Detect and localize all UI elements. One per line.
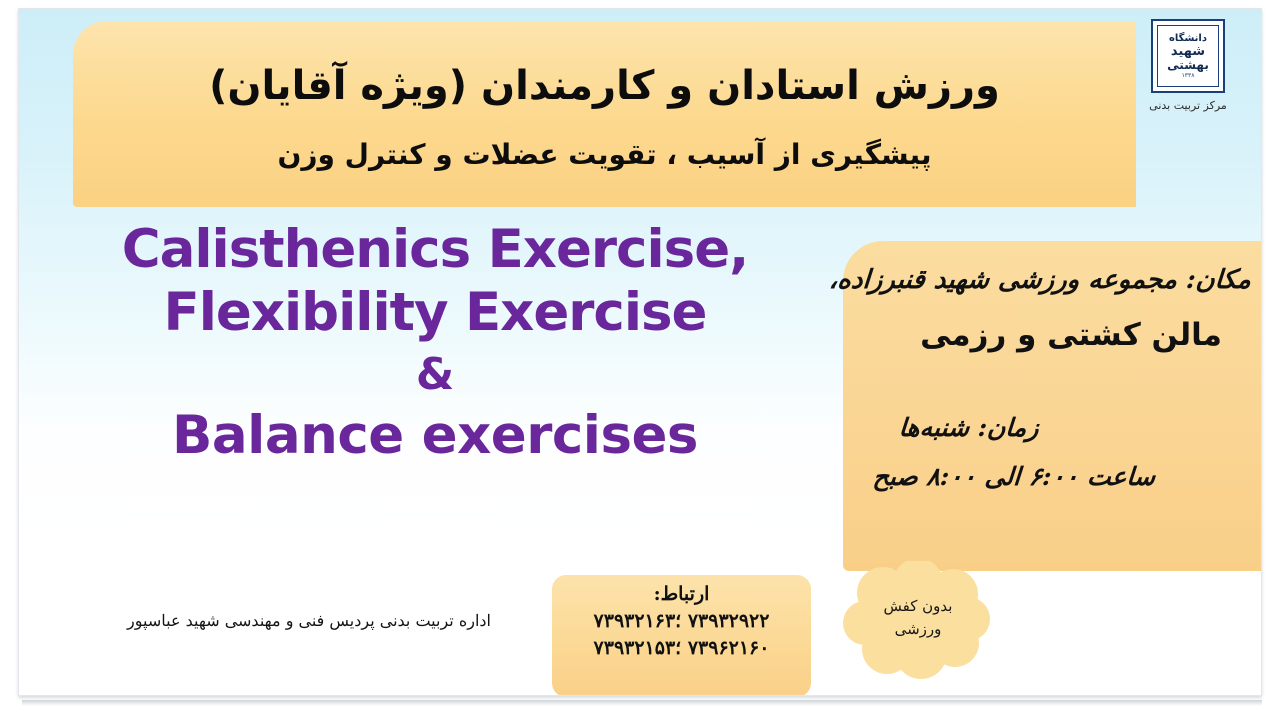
logo-word-university: دانشگاه: [1169, 34, 1207, 44]
logo-founding-year: ۱۳۳۸: [1182, 73, 1195, 79]
cloud-callout-text: بدون کفش ورزشی: [843, 595, 993, 642]
university-logo-block: دانشگاه شهید بهشتی ۱۳۳۸ مرکز تربیت بدنی: [1133, 19, 1243, 112]
venue-location-line: مکان: مجموعه ورزشی شهید قنبرزاده،: [864, 263, 1252, 298]
schedule-hours-line: ساعت ۶:۰۰ الی ۸:۰۰ صبح: [864, 462, 1252, 491]
cloud-text-line-2: ورزشی: [843, 618, 993, 641]
cloud-text-line-1: بدون کفش: [843, 595, 993, 618]
header-panel: ورزش استادان و کارمندان (ویژه آقایان) پی…: [73, 21, 1136, 207]
contact-panel: ارتباط: ۷۳۹۳۲۹۲۲ ؛۷۳۹۳۲۱۶۳ ۷۳۹۶۲۱۶۰ ؛۷۳۹…: [552, 575, 811, 696]
slide-frame: ورزش استادان و کارمندان (ویژه آقایان) پی…: [18, 8, 1262, 696]
department-footer: اداره تربیت بدنی پردیس فنی و مهندسی شهید…: [99, 611, 519, 630]
venue-hall-line: مالن کشتی و رزمی: [865, 314, 1251, 357]
contact-numbers-line-1: ۷۳۹۳۲۹۲۲ ؛۷۳۹۳۲۱۶۳: [562, 608, 801, 636]
english-headline: Calisthenics Exercise, Flexibility Exerc…: [35, 221, 835, 464]
cloud-callout: بدون کفش ورزشی: [843, 561, 993, 681]
page-subtitle: پیشگیری از آسیب ، تقویت عضلات و کنترل وز…: [103, 137, 1106, 173]
logo-word-beheshti: بهشتی: [1167, 59, 1209, 71]
headline-line-2: Flexibility Exercise: [35, 284, 835, 341]
headline-line-4: Balance exercises: [35, 407, 835, 464]
contact-numbers-line-2: ۷۳۹۶۲۱۶۰ ؛۷۳۹۳۲۱۵۳: [562, 635, 801, 663]
university-logo-icon: دانشگاه شهید بهشتی ۱۳۳۸: [1151, 19, 1225, 93]
logo-caption: مرکز تربیت بدنی: [1133, 99, 1243, 112]
slide-drop-shadow: [22, 700, 1262, 706]
page-title: ورزش استادان و کارمندان (ویژه آقایان): [103, 61, 1106, 111]
logo-inner-frame: دانشگاه شهید بهشتی ۱۳۳۸: [1157, 25, 1219, 87]
logo-word-shahid: شهید: [1171, 45, 1205, 58]
venue-time-panel: مکان: مجموعه ورزشی شهید قنبرزاده، مالن ک…: [843, 241, 1262, 571]
headline-line-1: Calisthenics Exercise,: [35, 221, 835, 278]
headline-ampersand: &: [35, 351, 835, 399]
schedule-day-line: زمان: شنبه‌ها: [864, 413, 1252, 442]
contact-label: ارتباط:: [562, 581, 801, 608]
poster-slide: ورزش استادان و کارمندان (ویژه آقایان) پی…: [0, 0, 1280, 720]
